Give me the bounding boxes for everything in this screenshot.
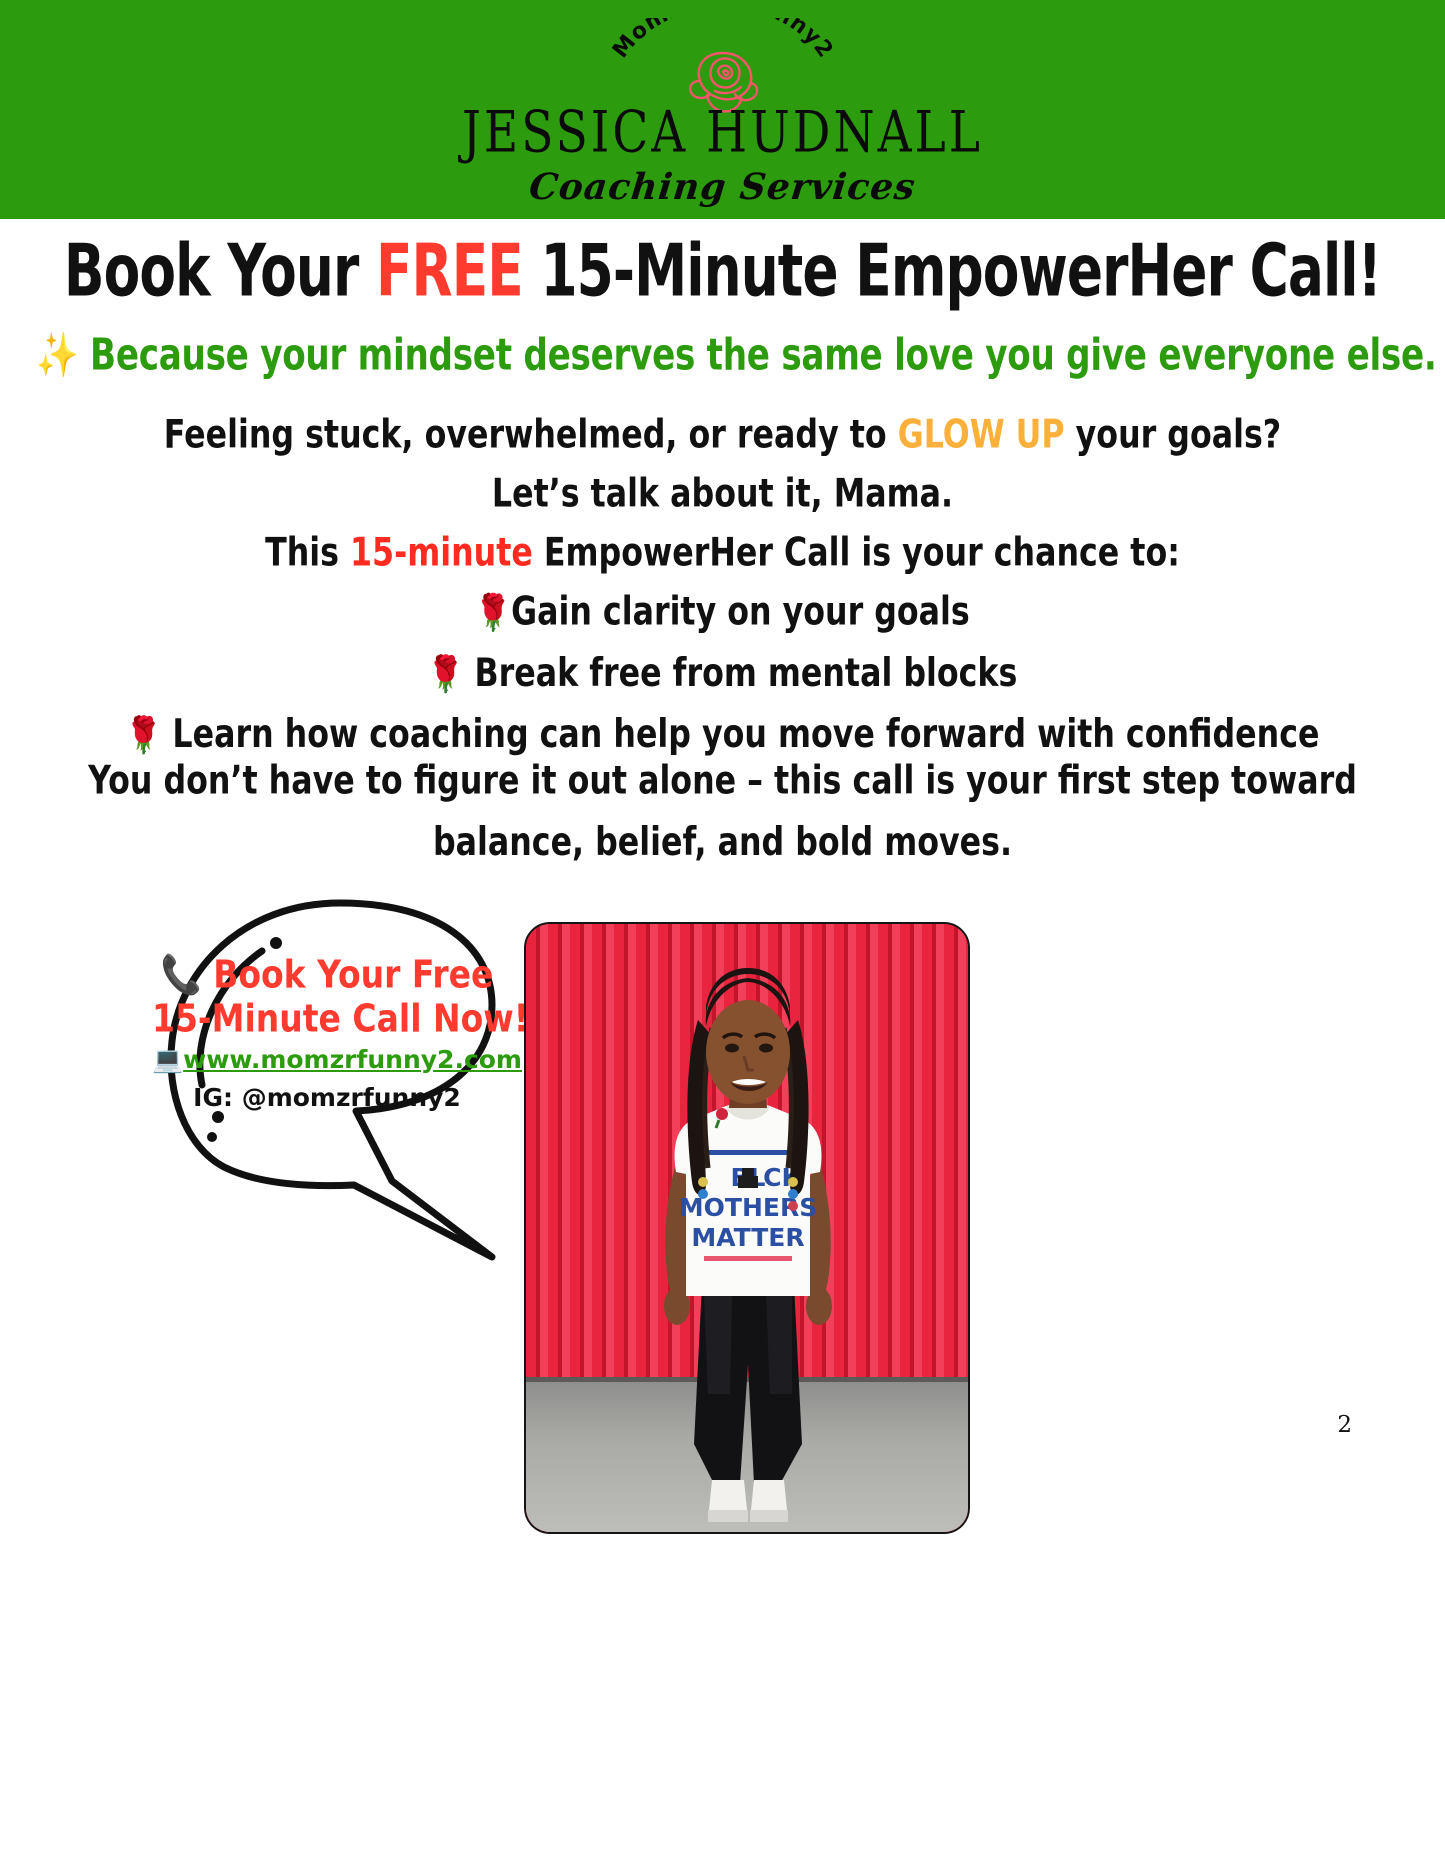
brand-subtitle: Coaching Services [0, 166, 1445, 208]
headline-part-1: Book Your [64, 228, 376, 313]
list-item: 🌹 Break free from mental blocks [29, 643, 1416, 704]
coach-photo: BL CK MOTHERS MATTER [524, 922, 970, 1534]
tagline-text: Because your mindset deserves the same l… [90, 331, 1437, 380]
body-line-1a: Feeling stuck, overwhelmed, or ready to [164, 411, 898, 457]
headline-part-2: 15-Minute EmpowerHer Call! [523, 228, 1381, 313]
cta-line-2: 15-Minute Call Now! [152, 994, 502, 1045]
header-band: Momz "R" Funny2 JESSICA HUDNALL Coachin [0, 0, 1445, 219]
closing-paragraph: You don’t have to figure it out alone – … [29, 750, 1416, 873]
sparkle-left-icon: ✨ [36, 331, 78, 380]
body-line-3a: This [265, 529, 350, 575]
bullet-label: Gain clarity on your goals [511, 588, 970, 634]
website-link[interactable]: www.momzrfunny2.com [183, 1045, 522, 1074]
svg-text:MATTER: MATTER [691, 1223, 804, 1252]
cta-website-row[interactable]: 💻www.momzrfunny2.com [152, 1041, 502, 1079]
brand-name: JESSICA HUDNALL [0, 104, 1445, 161]
rose-bullet-icon: 🌹 [475, 593, 511, 634]
laptop-icon: 💻 [152, 1045, 183, 1074]
cta-line-1-label: Book Your Free [213, 952, 493, 997]
body-15-minute: 15-minute [350, 529, 533, 575]
closing-line-2: balance, belief, and bold moves. [29, 811, 1416, 872]
list-item: 🌹Gain clarity on your goals [29, 582, 1416, 643]
body-line-2: Let’s talk about it, Mama. [29, 464, 1416, 523]
body-line-1b: your goals? [1065, 411, 1282, 457]
person-figure: BL CK MOTHERS MATTER [526, 924, 968, 1532]
rose-bullet-icon: 🌹 [428, 654, 464, 695]
body-line-1: Feeling stuck, overwhelmed, or ready to … [29, 405, 1416, 464]
body-glow-up: GLOW UP [898, 411, 1065, 457]
cta-text: 📞 Book Your Free 15-Minute Call Now! 💻ww… [152, 953, 502, 1117]
instagram-handle[interactable]: IG: @momzrfunny2 [152, 1079, 502, 1117]
headline-free: FREE [376, 228, 523, 313]
page-title: Book Your FREE 15-Minute EmpowerHer Call… [58, 228, 1387, 313]
phone-icon: 📞 [161, 952, 202, 997]
page-number: 2 [1337, 1412, 1352, 1438]
bullet-label: Break free from mental blocks [475, 649, 1018, 695]
closing-line-1: You don’t have to figure it out alone – … [29, 750, 1416, 811]
body-line-3b: EmpowerHer Call is your chance to: [533, 529, 1180, 575]
brand-logo: Momz "R" Funny2 JESSICA HUDNALL Coachin [0, 0, 1445, 219]
tagline: ✨ Because your mindset deserves the same… [36, 330, 1409, 380]
cta-speech-bubble[interactable]: 📞 Book Your Free 15-Minute Call Now! 💻ww… [140, 885, 540, 1285]
body-copy: Feeling stuck, overwhelmed, or ready to … [29, 405, 1416, 766]
body-line-3: This 15-minute EmpowerHer Call is your c… [29, 523, 1416, 582]
